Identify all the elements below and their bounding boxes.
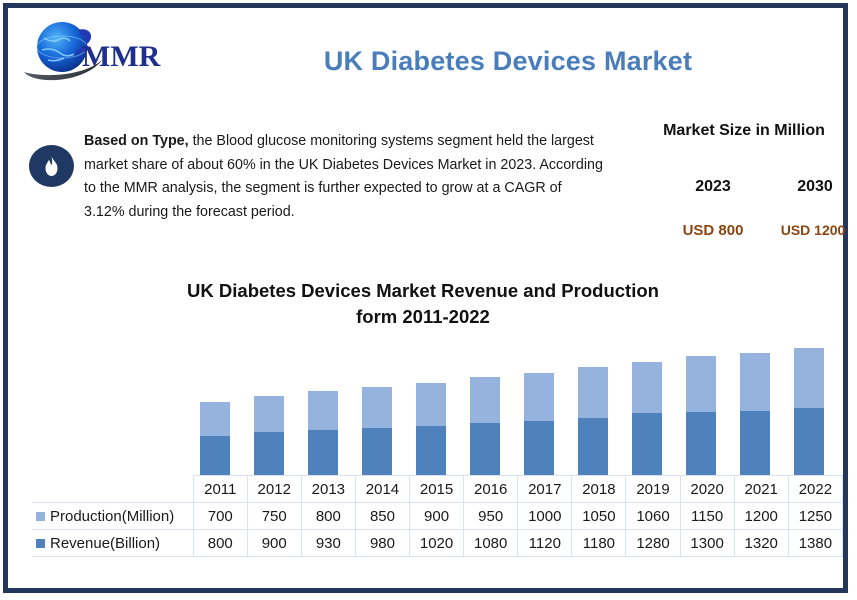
market-size-value-from: USD 800 — [663, 222, 763, 239]
table-header-row: 2011201220132014201520162017201820192020… — [32, 476, 843, 503]
legend-item: Production(Million) — [32, 503, 193, 530]
table-header-2011: 2011 — [193, 476, 247, 503]
table-cell: 1020 — [410, 530, 464, 557]
bar-2016 — [458, 377, 512, 475]
poster-frame: MMR UK Diabetes Devices Market Based on … — [3, 3, 848, 593]
legend-swatch-icon — [36, 539, 45, 548]
bar-segment-revenue — [308, 430, 338, 475]
bar-segment-production — [524, 373, 554, 421]
page-title: UK Diabetes Devices Market — [188, 46, 828, 77]
chart-title: UK Diabetes Devices Market Revenue and P… — [118, 278, 728, 330]
table-cell: 900 — [410, 503, 464, 530]
bar-segment-production — [200, 402, 230, 436]
table-cell: 1320 — [734, 530, 788, 557]
bar-segment-revenue — [632, 413, 662, 475]
chart-title-line1: UK Diabetes Devices Market Revenue and P… — [118, 278, 728, 304]
table-cell: 1060 — [626, 503, 680, 530]
bar-segment-revenue — [686, 412, 716, 475]
table-cell: 1150 — [680, 503, 734, 530]
data-table: 2011201220132014201520162017201820192020… — [32, 475, 843, 557]
table-header-2021: 2021 — [734, 476, 788, 503]
market-size-title: Market Size in Million — [638, 122, 850, 140]
legend-item: Revenue(Billion) — [32, 530, 193, 557]
bar-segment-production — [578, 367, 608, 418]
intro-paragraph: Based on Type, the Blood glucose monitor… — [84, 130, 604, 224]
table-header-2016: 2016 — [464, 476, 518, 503]
legend-label: Revenue(Billion) — [50, 535, 160, 552]
legend-swatch-icon — [36, 512, 45, 521]
bar-segment-revenue — [794, 408, 824, 475]
bar-segment-revenue — [524, 421, 554, 475]
bar-2022 — [782, 348, 836, 475]
mmr-logo: MMR — [22, 16, 172, 86]
table-cell: 1080 — [464, 530, 518, 557]
bar-segment-production — [632, 362, 662, 413]
globe-swoosh-icon: MMR — [22, 16, 172, 86]
bar-segment-production — [740, 353, 770, 411]
table-header-2014: 2014 — [355, 476, 409, 503]
bar-2020 — [674, 356, 728, 475]
bar-2013 — [296, 391, 350, 475]
table-header-2022: 2022 — [788, 476, 842, 503]
bar-segment-revenue — [578, 418, 608, 475]
table-header-2018: 2018 — [572, 476, 626, 503]
table-cell: 700 — [193, 503, 247, 530]
table-header-2019: 2019 — [626, 476, 680, 503]
table-cell: 930 — [301, 530, 355, 557]
bar-segment-production — [362, 387, 392, 428]
stacked-bar-chart — [188, 340, 836, 475]
table-header-2017: 2017 — [518, 476, 572, 503]
table-header-2015: 2015 — [410, 476, 464, 503]
bar-segment-revenue — [470, 423, 500, 475]
table-cell: 950 — [464, 503, 518, 530]
table-cell: 1380 — [788, 530, 842, 557]
bar-segment-revenue — [362, 428, 392, 475]
bar-2015 — [404, 383, 458, 475]
bar-2017 — [512, 373, 566, 475]
table-cell: 800 — [193, 530, 247, 557]
table-cell: 1050 — [572, 503, 626, 530]
table-cell: 1120 — [518, 530, 572, 557]
bar-segment-production — [308, 391, 338, 430]
table-cell: 1300 — [680, 530, 734, 557]
table-cell: 1000 — [518, 503, 572, 530]
flame-icon — [29, 145, 74, 187]
bar-segment-revenue — [740, 411, 770, 475]
table-cell: 1280 — [626, 530, 680, 557]
table-cell: 850 — [355, 503, 409, 530]
bar-2019 — [620, 362, 674, 475]
bar-segment-revenue — [416, 426, 446, 475]
table-cell: 800 — [301, 503, 355, 530]
bar-2018 — [566, 367, 620, 475]
market-size-year-to: 2030 — [770, 178, 857, 196]
bar-segment-production — [254, 396, 284, 432]
table-row: Revenue(Billion)800900930980102010801120… — [32, 530, 843, 557]
table-header-2013: 2013 — [301, 476, 355, 503]
bar-2021 — [728, 353, 782, 475]
bar-segment-revenue — [254, 432, 284, 475]
table-cell: 1180 — [572, 530, 626, 557]
table-row: Production(Million)700750800850900950100… — [32, 503, 843, 530]
table-cell: 1200 — [734, 503, 788, 530]
table-header-2020: 2020 — [680, 476, 734, 503]
bar-segment-production — [794, 348, 824, 408]
bar-segment-production — [416, 383, 446, 426]
market-size-year-from: 2023 — [668, 178, 758, 196]
intro-lead: Based on Type, — [84, 133, 189, 149]
bar-2012 — [242, 396, 296, 475]
bar-segment-revenue — [200, 436, 230, 475]
table-cell: 900 — [247, 530, 301, 557]
logo-wordmark: MMR — [82, 40, 161, 73]
chart-title-line2: form 2011-2022 — [118, 304, 728, 330]
table-header-2012: 2012 — [247, 476, 301, 503]
table-cell: 750 — [247, 503, 301, 530]
bar-segment-production — [686, 356, 716, 412]
bar-2014 — [350, 387, 404, 475]
bar-segment-production — [470, 377, 500, 423]
table-cell: 1250 — [788, 503, 842, 530]
legend-label: Production(Million) — [50, 508, 174, 525]
bar-2011 — [188, 402, 242, 475]
table-corner-cell — [32, 476, 193, 503]
table-cell: 980 — [355, 530, 409, 557]
market-size-value-to: USD 1200 — [763, 222, 857, 238]
